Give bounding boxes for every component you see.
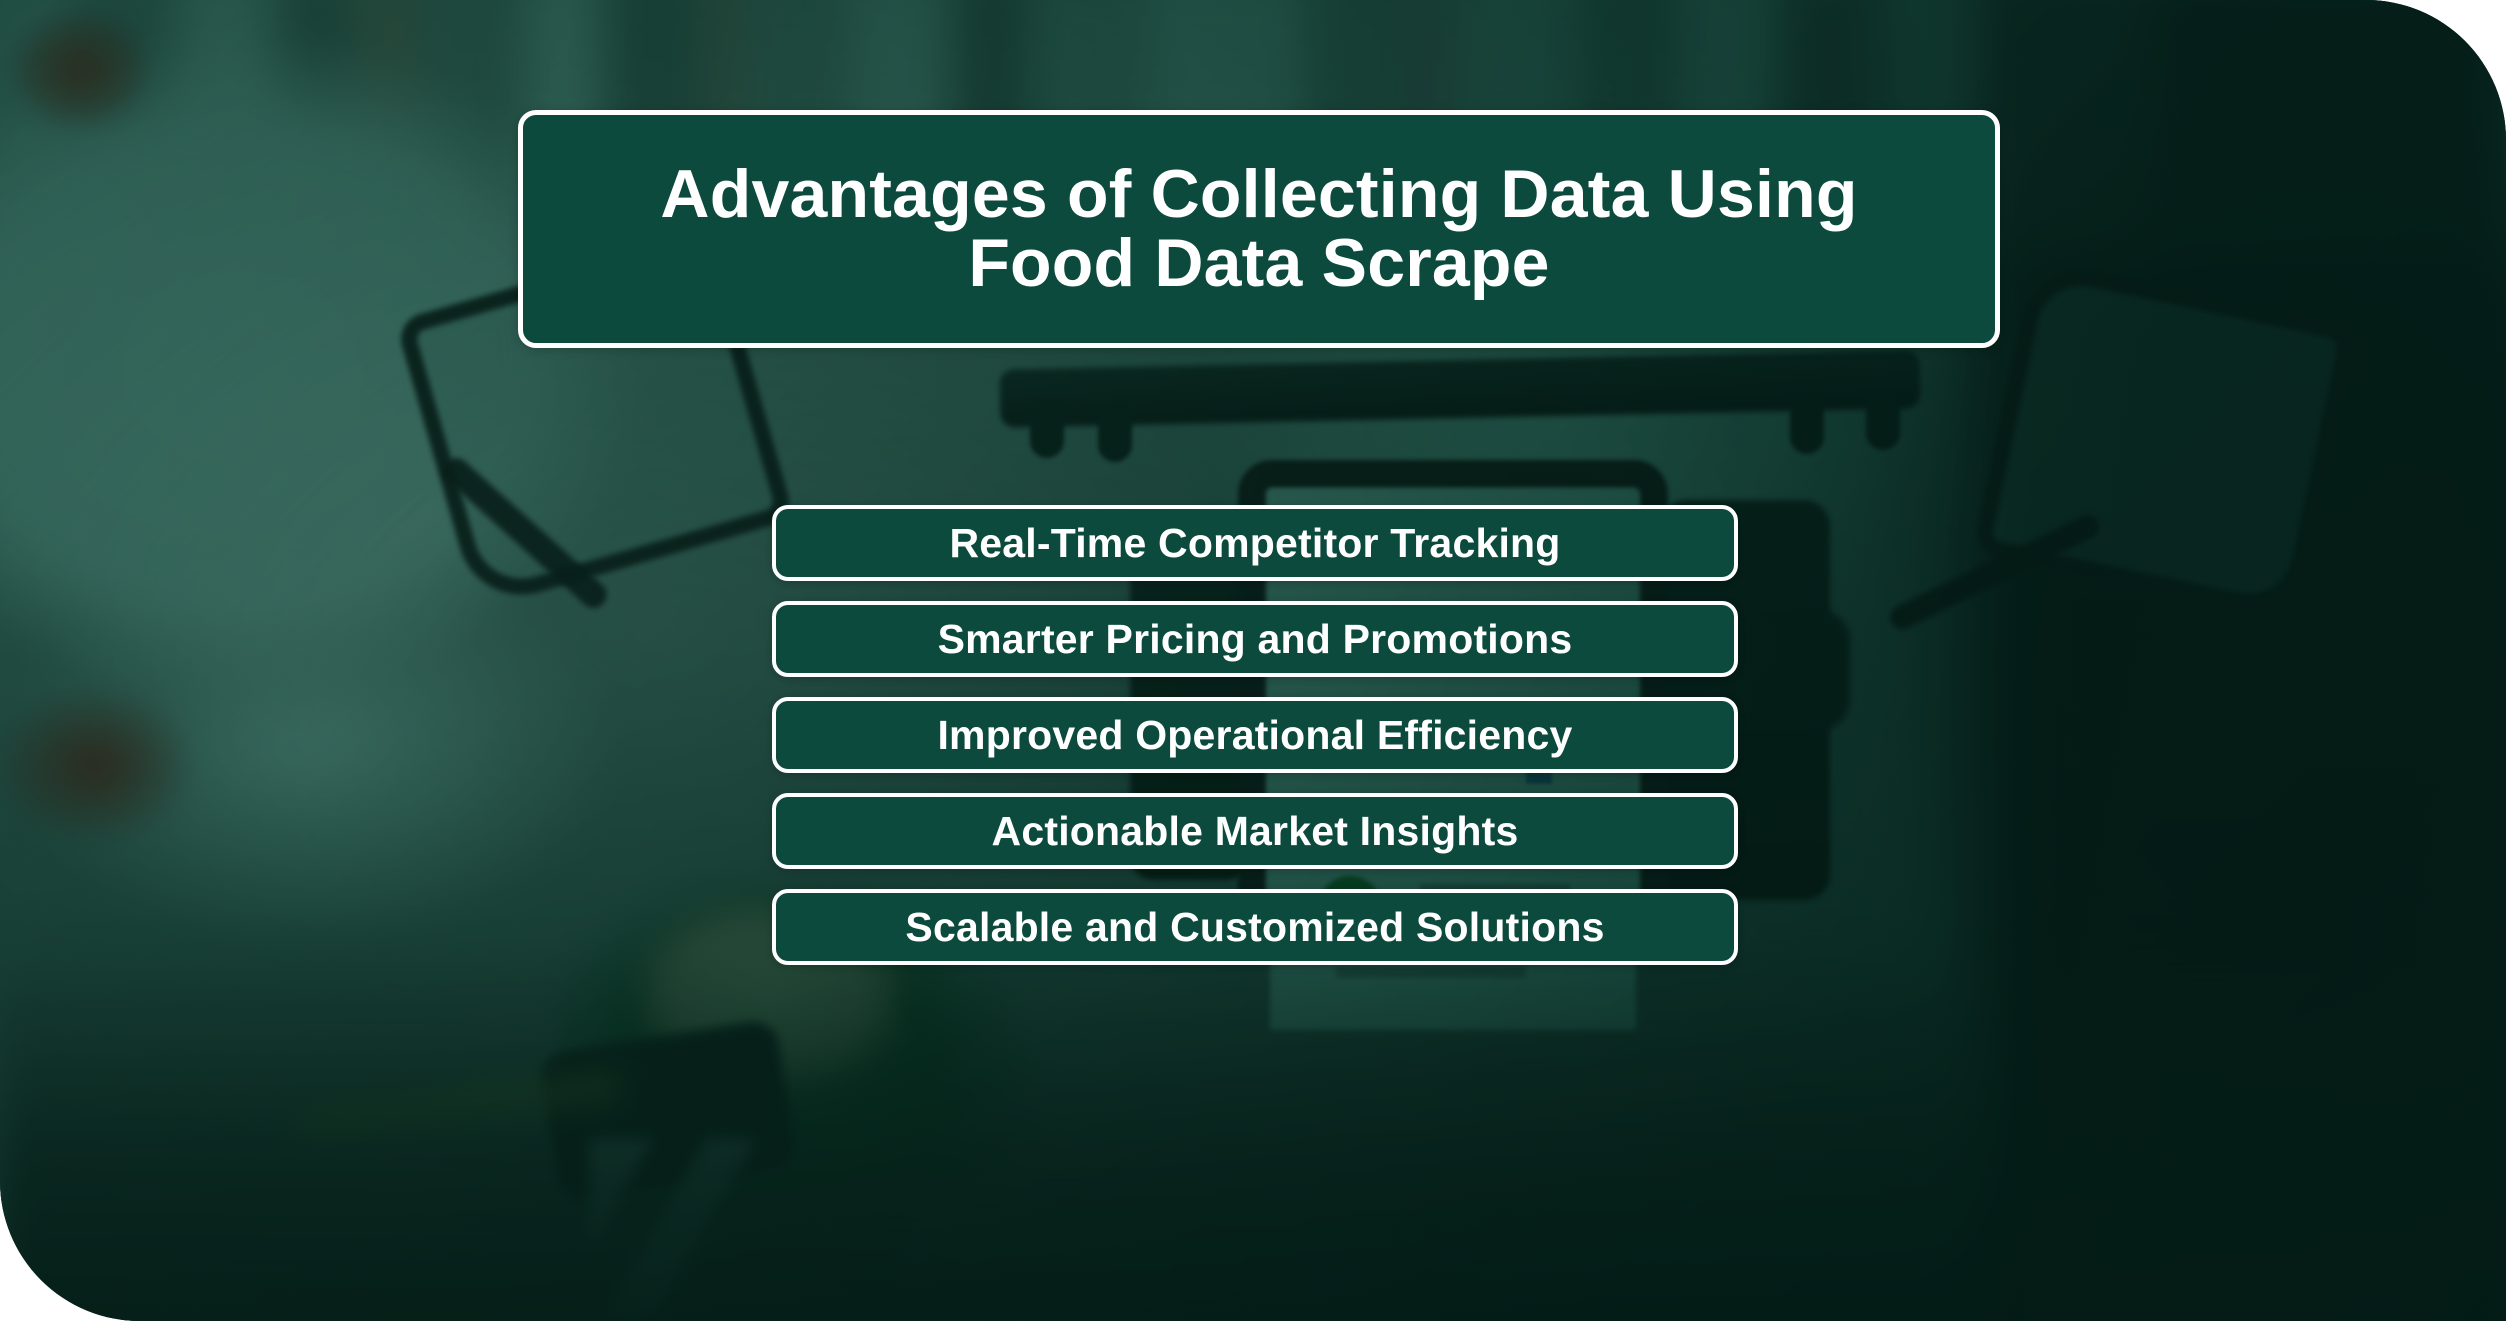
benefit-label: Smarter Pricing and Promotions: [938, 616, 1573, 663]
benefit-item-5[interactable]: Scalable and Customized Solutions: [772, 889, 1738, 965]
benefit-item-1[interactable]: Real-Time Competitor Tracking: [772, 505, 1738, 581]
benefit-item-4[interactable]: Actionable Market Insights: [772, 793, 1738, 869]
infographic-card: Advantages of Collecting Data Using Food…: [0, 0, 2506, 1321]
benefit-item-2[interactable]: Smarter Pricing and Promotions: [772, 601, 1738, 677]
benefits-list: Real-Time Competitor Tracking Smarter Pr…: [772, 505, 1738, 965]
benefit-item-3[interactable]: Improved Operational Efficiency: [772, 697, 1738, 773]
benefit-label: Real-Time Competitor Tracking: [949, 520, 1560, 567]
page-title: Advantages of Collecting Data Using Food…: [632, 160, 1885, 299]
page-title-line-2: Food Data Scrape: [968, 225, 1549, 301]
page-title-line-1: Advantages of Collecting Data Using: [660, 156, 1857, 232]
title-card: Advantages of Collecting Data Using Food…: [518, 110, 2000, 348]
benefit-label: Scalable and Customized Solutions: [905, 904, 1604, 951]
benefit-label: Improved Operational Efficiency: [937, 712, 1572, 759]
content-layer: Advantages of Collecting Data Using Food…: [0, 0, 2506, 1321]
benefit-label: Actionable Market Insights: [992, 808, 1519, 855]
